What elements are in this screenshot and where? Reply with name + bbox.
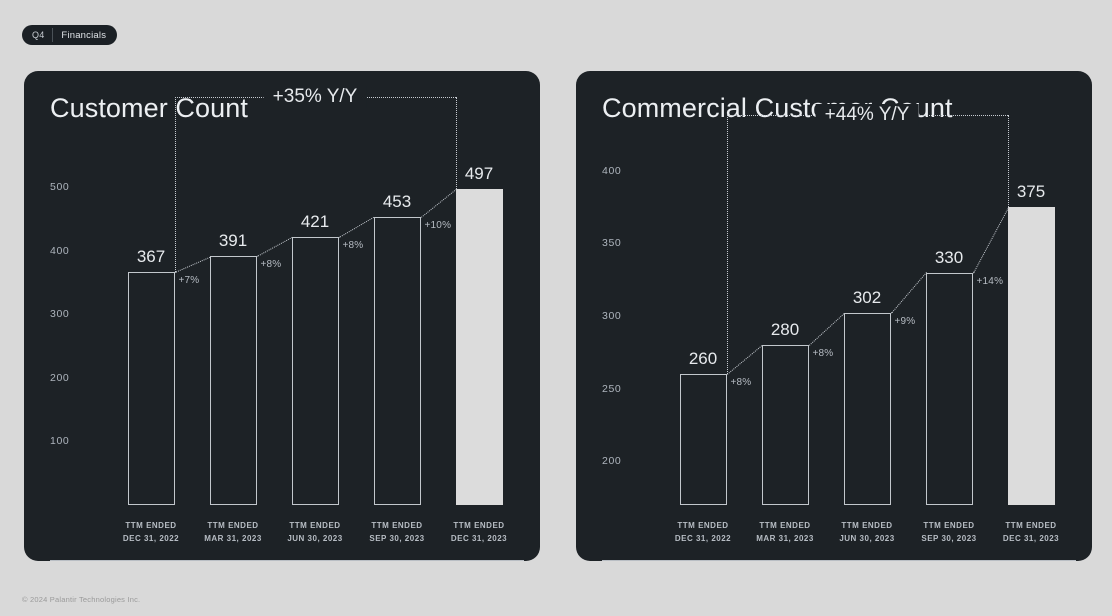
y-axis-tick: 300	[50, 308, 98, 320]
x-axis-tick-label-line2: DEC 31, 2023	[438, 533, 520, 545]
x-axis-tick-label-line1: TTM ENDED	[110, 520, 192, 532]
x-axis-tick-label-line2: DEC 31, 2022	[662, 533, 744, 545]
breadcrumb: Q4 Financials	[22, 25, 117, 45]
breadcrumb-section: Financials	[53, 25, 117, 45]
chart-card-commercial-customer-count: Commercial Customer Count 20025030035040…	[576, 71, 1092, 561]
x-axis-tick-label-line2: JUN 30, 2023	[274, 533, 356, 545]
x-axis-tick-label-line1: TTM ENDED	[826, 520, 908, 532]
x-axis-tick-label-line2: SEP 30, 2023	[908, 533, 990, 545]
bar-value-label: 497	[465, 164, 493, 184]
growth-percent-label: +7%	[179, 275, 200, 286]
bar[interactable]: 453	[374, 217, 421, 505]
x-axis-tick-label: TTM ENDEDDEC 31, 2023	[438, 520, 520, 545]
x-axis-tick-label-line2: MAR 31, 2023	[744, 533, 826, 545]
x-axis-tick-label: TTM ENDEDJUN 30, 2023	[826, 520, 908, 545]
bar-value-label: 367	[137, 247, 165, 267]
bar[interactable]: 391	[210, 256, 257, 505]
x-axis-labels: TTM ENDEDDEC 31, 2022TTM ENDEDMAR 31, 20…	[110, 520, 520, 545]
bar[interactable]: 280	[762, 345, 809, 505]
y-axis-tick: 400	[602, 165, 650, 177]
x-axis-tick-label: TTM ENDEDSEP 30, 2023	[356, 520, 438, 545]
yoy-annotation-label: +44% Y/Y	[816, 104, 919, 126]
bar-slot: 367	[110, 149, 192, 505]
x-axis-tick-label-line2: SEP 30, 2023	[356, 533, 438, 545]
x-axis-tick-label-line1: TTM ENDED	[990, 520, 1072, 532]
bar-value-label: 375	[1017, 182, 1045, 202]
bar-group: 367391421453497	[110, 149, 520, 505]
bar-value-label: 453	[383, 192, 411, 212]
yoy-bracket-right-leg	[1008, 115, 1009, 207]
bar-value-label: 421	[301, 212, 329, 232]
growth-percent-label: +8%	[813, 348, 834, 359]
x-axis-tick-label: TTM ENDEDMAR 31, 2023	[744, 520, 826, 545]
bar[interactable]: 497	[456, 189, 503, 505]
x-axis-tick-label: TTM ENDEDDEC 31, 2022	[110, 520, 192, 545]
growth-percent-label: +8%	[731, 377, 752, 388]
x-axis-tick-label-line1: TTM ENDED	[438, 520, 520, 532]
bar-group: 260280302330375	[662, 149, 1072, 505]
bar-value-label: 280	[771, 320, 799, 340]
bar[interactable]: 421	[292, 237, 339, 505]
slide-page: Q4 Financials Customer Count 10020030040…	[0, 0, 1112, 616]
bar-value-label: 330	[935, 248, 963, 268]
yoy-bracket-right-leg	[456, 97, 457, 189]
growth-percent-label: +8%	[261, 259, 282, 270]
bar-value-label: 260	[689, 349, 717, 369]
x-axis-tick-label: TTM ENDEDJUN 30, 2023	[274, 520, 356, 545]
y-axis-tick: 200	[50, 372, 98, 384]
y-axis-tick: 200	[602, 455, 650, 467]
x-axis-tick-label-line2: DEC 31, 2022	[110, 533, 192, 545]
bar[interactable]: 260	[680, 374, 727, 505]
yoy-bracket-left-leg	[727, 115, 728, 374]
x-axis-tick-label: TTM ENDEDDEC 31, 2023	[990, 520, 1072, 545]
x-axis-labels: TTM ENDEDDEC 31, 2022TTM ENDEDMAR 31, 20…	[662, 520, 1072, 545]
bar[interactable]: 375	[1008, 207, 1055, 505]
x-axis-tick-label-line2: MAR 31, 2023	[192, 533, 274, 545]
chart-plot-area: 100200300400500367391421453497+7%+8%+8%+…	[50, 149, 524, 505]
y-axis-tick: 250	[602, 383, 650, 395]
y-axis-tick: 400	[50, 245, 98, 257]
x-axis-tick-label-line1: TTM ENDED	[192, 520, 274, 532]
x-axis-line	[602, 560, 1076, 561]
chart-card-customer-count: Customer Count 1002003004005003673914214…	[24, 71, 540, 561]
bar[interactable]: 330	[926, 273, 973, 505]
bar-value-label: 391	[219, 231, 247, 251]
x-axis-tick-label-line1: TTM ENDED	[356, 520, 438, 532]
x-axis-tick-label-line1: TTM ENDED	[908, 520, 990, 532]
bar-value-label: 302	[853, 288, 881, 308]
bar-slot: 453	[356, 149, 438, 505]
bar-slot: 421	[274, 149, 356, 505]
x-axis-tick-label-line2: JUN 30, 2023	[826, 533, 908, 545]
bar[interactable]: 302	[844, 313, 891, 505]
y-axis-tick: 350	[602, 237, 650, 249]
bar-slot: 497	[438, 149, 520, 505]
yoy-bracket-left-leg	[175, 97, 176, 272]
x-axis-tick-label-line2: DEC 31, 2023	[990, 533, 1072, 545]
x-axis-line	[50, 560, 524, 561]
growth-percent-label: +8%	[343, 240, 364, 251]
yoy-annotation-label: +35% Y/Y	[264, 86, 367, 108]
x-axis-tick-label-line1: TTM ENDED	[744, 520, 826, 532]
bar-slot: 391	[192, 149, 274, 505]
x-axis-tick-label-line1: TTM ENDED	[274, 520, 356, 532]
bar-slot: 280	[744, 149, 826, 505]
y-axis-tick: 500	[50, 181, 98, 193]
x-axis-tick-label: TTM ENDEDSEP 30, 2023	[908, 520, 990, 545]
x-axis-tick-label: TTM ENDEDMAR 31, 2023	[192, 520, 274, 545]
footer-copyright: © 2024 Palantir Technologies Inc.	[22, 595, 140, 604]
x-axis-tick-label: TTM ENDEDDEC 31, 2022	[662, 520, 744, 545]
bar-slot: 330	[908, 149, 990, 505]
growth-percent-label: +14%	[977, 276, 1004, 287]
x-axis-tick-label-line1: TTM ENDED	[662, 520, 744, 532]
bar[interactable]: 367	[128, 272, 175, 505]
y-axis-tick: 100	[50, 435, 98, 447]
bar-slot: 260	[662, 149, 744, 505]
growth-percent-label: +9%	[895, 316, 916, 327]
chart-plot-area: 200250300350400260280302330375+8%+8%+9%+…	[602, 149, 1076, 505]
breadcrumb-quarter: Q4	[22, 25, 52, 45]
growth-percent-label: +10%	[425, 220, 452, 231]
bar-slot: 375	[990, 149, 1072, 505]
y-axis-tick: 300	[602, 310, 650, 322]
